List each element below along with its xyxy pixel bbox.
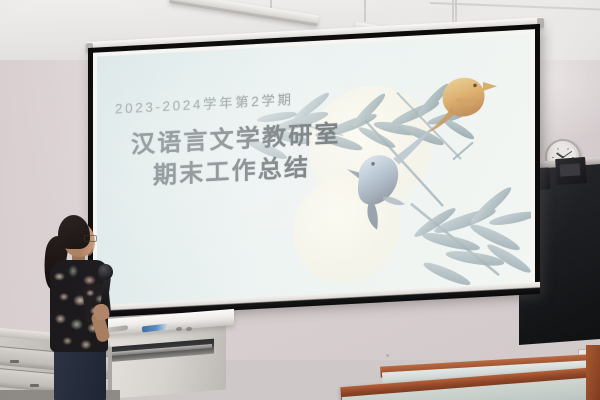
slide-text-block: 2023-2024学年第2学期 汉语言文学教研室 期末工作总结 [115,83,383,194]
light-rod-left-b [455,0,457,22]
light-rod-right-a [364,0,366,22]
wall-mounted-device-face [560,163,581,176]
screen-white-border: 2023-2024学年第2学期 汉语言文学教研室 期末工作总结 [93,29,535,311]
glasses-icon [84,235,97,242]
cabinet-handle [10,360,19,363]
presenter-trousers [54,348,106,400]
presenter-hair [58,215,90,249]
projection-screen: 2023-2024学年第2学期 汉语言文学教研室 期末工作总结 [88,24,540,316]
light-rod-left-a [270,0,272,8]
desk-side-post [586,345,600,400]
presenter [30,208,122,400]
presentation-slide: 2023-2024学年第2学期 汉语言文学教研室 期末工作总结 [97,33,531,306]
classroom-photo: 2023-2024学年第2学期 汉语言文学教研室 期末工作总结 [0,0,600,400]
microphone-head-icon [98,264,113,280]
wall-nail [386,354,389,357]
